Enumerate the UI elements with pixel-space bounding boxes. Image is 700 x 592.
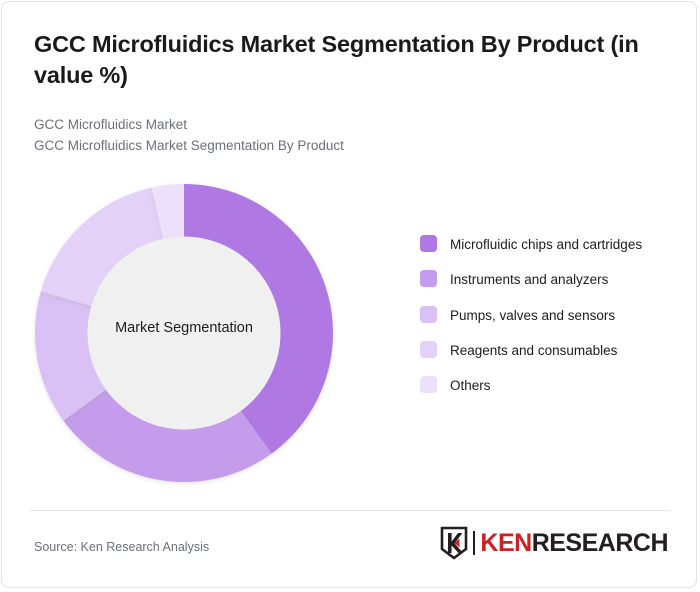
donut-slices	[35, 184, 333, 482]
breadcrumb-line-2: GCC Microfluidics Market Segmentation By…	[34, 136, 654, 157]
legend-swatch-icon	[420, 235, 437, 252]
ken-research-logo: KENRESEARCH	[439, 526, 668, 560]
page-title: GCC Microfluidics Market Segmentation By…	[34, 29, 654, 90]
ken-research-logo-icon	[439, 526, 469, 560]
breadcrumb-line-1: GCC Microfluidics Market	[34, 115, 654, 136]
legend-item[interactable]: Instruments and analyzers	[420, 269, 678, 290]
legend-item[interactable]: Others	[420, 375, 678, 396]
donut-slice[interactable]	[41, 188, 184, 333]
breadcrumb: GCC Microfluidics Market GCC Microfluidi…	[34, 115, 654, 156]
logo-wordmark-ken: KEN	[480, 529, 531, 557]
legend-item-label: Others	[450, 375, 491, 396]
legend-item[interactable]: Reagents and consumables	[420, 340, 678, 361]
legend-swatch-icon	[420, 270, 437, 287]
legend-swatch-icon	[420, 306, 437, 323]
legend-item-label: Instruments and analyzers	[450, 269, 608, 290]
legend-item-label: Pumps, valves and sensors	[450, 305, 615, 326]
donut-slice[interactable]	[151, 184, 184, 333]
legend-swatch-icon	[420, 376, 437, 393]
legend-item-label: Reagents and consumables	[450, 340, 617, 361]
logo-wordmark: KENRESEARCH	[480, 531, 668, 556]
donut-hole	[88, 237, 281, 430]
source-note: Source: Ken Research Analysis	[34, 540, 209, 554]
chart-legend: Microfluidic chips and cartridgesInstrum…	[420, 234, 678, 397]
donut-slice[interactable]	[184, 184, 333, 454]
legend-item[interactable]: Pumps, valves and sensors	[420, 305, 678, 326]
footer-divider	[30, 510, 670, 511]
donut-slice[interactable]	[35, 291, 184, 420]
logo-wordmark-research: RESEARCH	[532, 529, 668, 557]
legend-item[interactable]: Microfluidic chips and cartridges	[420, 234, 678, 255]
donut-center-label: Market Segmentation	[87, 320, 281, 337]
donut-slice[interactable]	[63, 333, 271, 482]
legend-item-label: Microfluidic chips and cartridges	[450, 234, 642, 255]
donut-chart-svg	[26, 176, 342, 492]
page-title-line-1: GCC Microfluidics Market Segmentation By…	[34, 31, 604, 57]
logo-divider	[473, 531, 475, 555]
chart-card: GCC Microfluidics Market Segmentation By…	[1, 1, 697, 588]
legend-swatch-icon	[420, 341, 437, 358]
